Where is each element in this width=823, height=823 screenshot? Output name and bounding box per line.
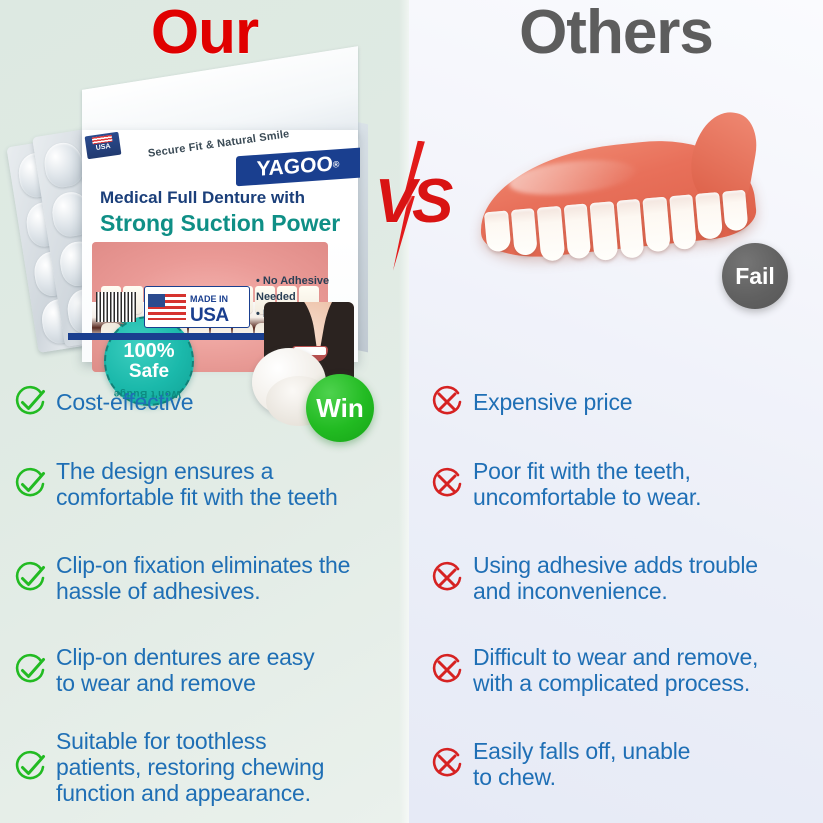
pros-item-label: Clip-on fixation eliminates the hassle o… bbox=[56, 552, 350, 604]
seal-safe-label: Safe bbox=[129, 362, 169, 381]
cons-item: Easily falls off, unable to chew. bbox=[427, 738, 690, 790]
pros-item-label: Clip-on dentures are easy to wear and re… bbox=[56, 644, 314, 696]
pros-item: Clip-on fixation eliminates the hassle o… bbox=[10, 552, 350, 604]
heading-others: Others bbox=[409, 2, 823, 64]
fail-badge: Fail bbox=[722, 243, 788, 309]
pros-item: The design ensures a comfortable fit wit… bbox=[10, 458, 338, 510]
seal-percent: 100% bbox=[123, 341, 174, 361]
cross-circle-icon bbox=[427, 650, 467, 690]
cross-circle-icon bbox=[427, 464, 467, 504]
carton-bullet-0: • No Adhesive Needed bbox=[256, 273, 358, 306]
pros-item-label: Cost-effective bbox=[56, 389, 193, 415]
comparison-infographic: Our Others bbox=[0, 0, 823, 823]
cons-item: Difficult to wear and remove, with a com… bbox=[427, 644, 758, 696]
cons-item-label: Using adhesive adds trouble and inconven… bbox=[473, 552, 758, 604]
cons-item: Using adhesive adds trouble and inconven… bbox=[427, 552, 758, 604]
check-circle-icon bbox=[10, 464, 50, 504]
cons-item-label: Poor fit with the teeth, uncomfortable t… bbox=[473, 458, 701, 510]
usa-flag-icon bbox=[148, 294, 186, 320]
pros-item: Clip-on dentures are easy to wear and re… bbox=[10, 644, 314, 696]
cross-circle-icon bbox=[427, 744, 467, 784]
versus-label: VS bbox=[352, 166, 472, 237]
made-in-country: USA bbox=[190, 305, 229, 326]
cons-item-label: Expensive price bbox=[473, 389, 632, 415]
versus-graphic: VS bbox=[352, 152, 472, 260]
brand-name: YAGOO bbox=[257, 153, 333, 182]
competitor-denture-veneer bbox=[470, 145, 760, 295]
cross-circle-icon bbox=[427, 558, 467, 598]
carton-title: Strong Suction Power bbox=[100, 210, 340, 237]
check-circle-icon bbox=[10, 747, 50, 787]
brand-tag: YAGOO® bbox=[236, 148, 360, 187]
cross-circle-icon bbox=[427, 382, 467, 422]
barcode-icon bbox=[96, 292, 136, 322]
pros-item: Cost-effective bbox=[10, 382, 193, 422]
pros-item: Suitable for toothless patients, restori… bbox=[10, 728, 324, 807]
win-badge: Win bbox=[306, 374, 374, 442]
cons-item-label: Difficult to wear and remove, with a com… bbox=[473, 644, 758, 696]
cons-item-label: Easily falls off, unable to chew. bbox=[473, 738, 690, 790]
pros-item-label: The design ensures a comfortable fit wit… bbox=[56, 458, 338, 510]
check-circle-icon bbox=[10, 382, 50, 422]
brand-registered-mark: ® bbox=[333, 159, 340, 169]
made-in-label: MADE IN bbox=[190, 294, 228, 304]
check-circle-icon bbox=[10, 558, 50, 598]
our-product-image: USA Secure Fit & Natural Smile YAGOO® Me… bbox=[0, 56, 409, 366]
usa-chip-label: USA bbox=[95, 143, 111, 152]
check-circle-icon bbox=[10, 650, 50, 690]
made-in-usa-badge: MADE IN USA bbox=[144, 286, 250, 328]
cons-item: Expensive price bbox=[427, 382, 632, 422]
pros-item-label: Suitable for toothless patients, restori… bbox=[56, 728, 324, 807]
cons-item: Poor fit with the teeth, uncomfortable t… bbox=[427, 458, 701, 510]
carton-subtitle: Medical Full Denture with bbox=[100, 188, 305, 208]
